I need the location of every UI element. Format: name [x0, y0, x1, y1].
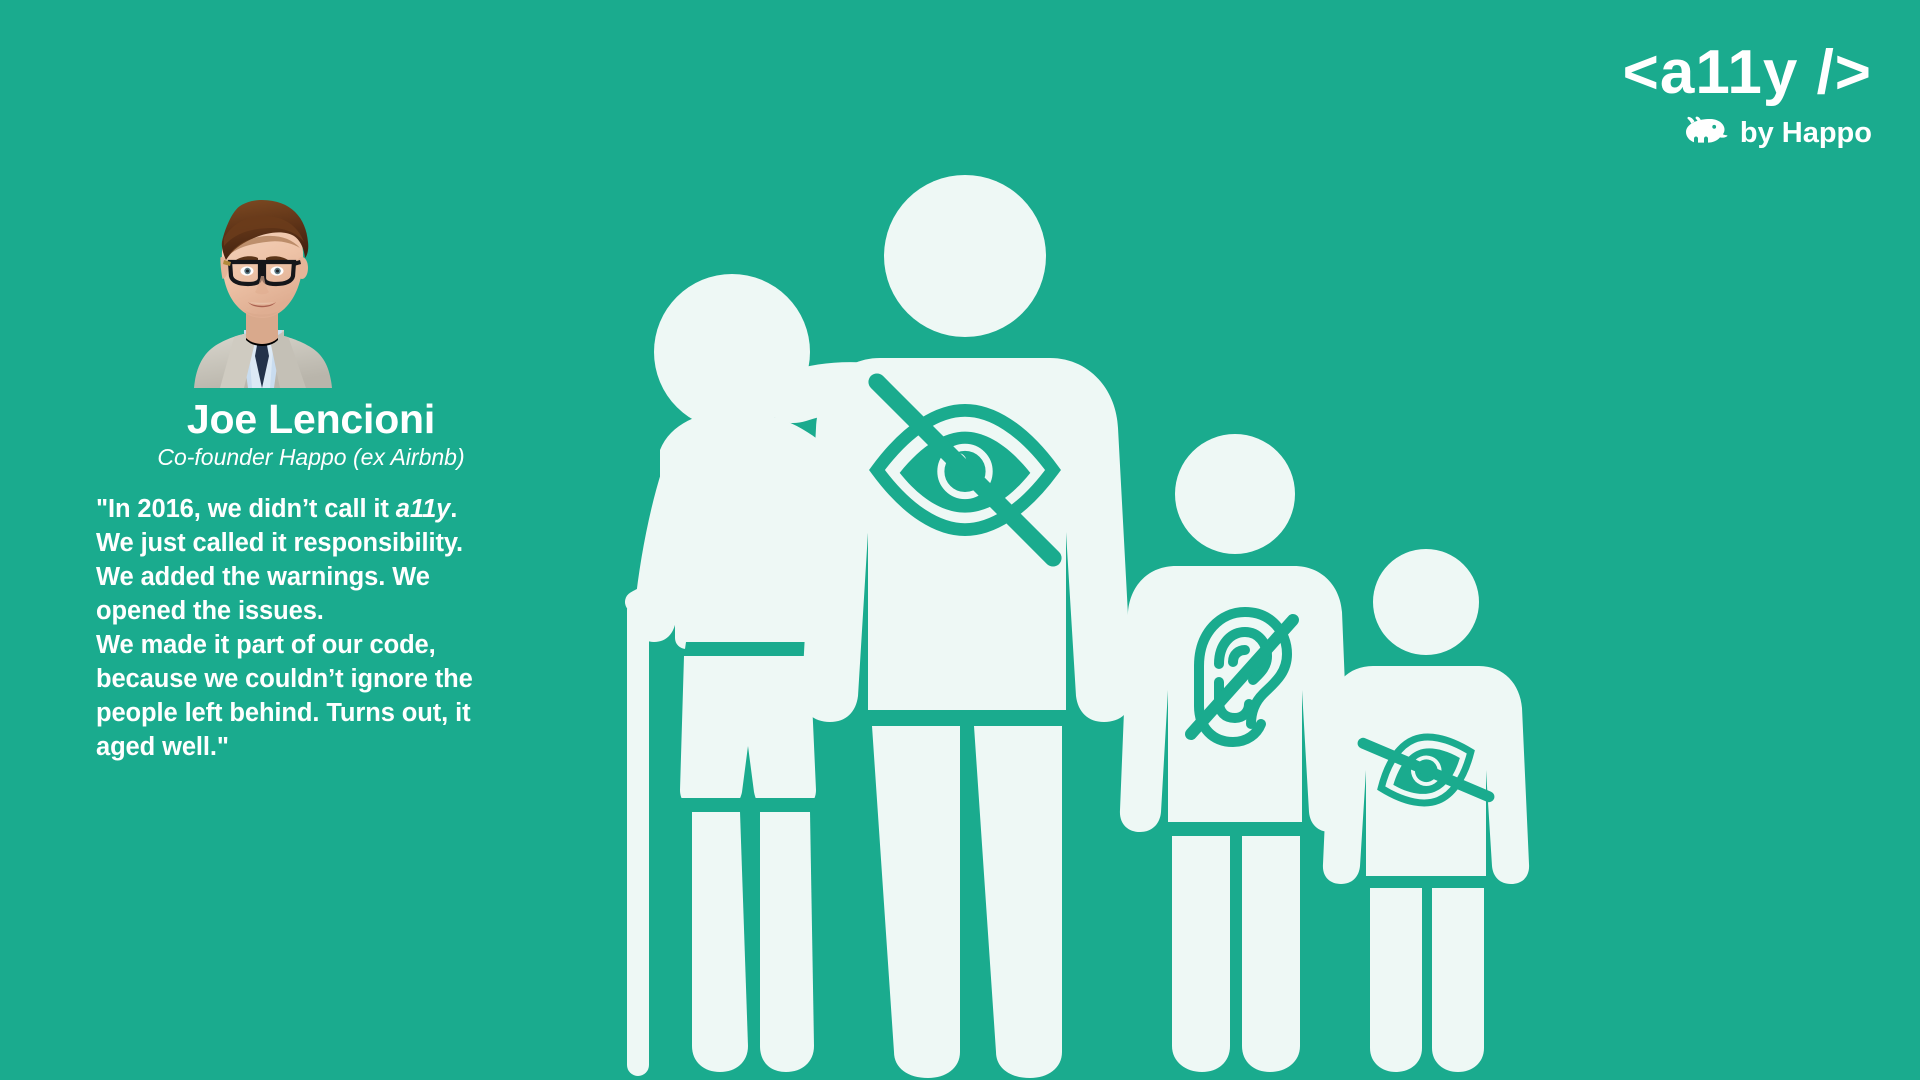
walking-cane [636, 596, 686, 1065]
quote-line-1-text: "In 2016, we didn’t call it [96, 495, 396, 523]
figure-adult-blind [766, 175, 1132, 1078]
quote-line-6: because we couldn’t ignore the [96, 662, 526, 696]
brand-logo: <a11y /> by Happo [1623, 42, 1872, 151]
avatar [96, 190, 526, 390]
hippo-icon [1684, 116, 1728, 151]
quote-line-7: people left behind. Turns out, it [96, 696, 526, 730]
speaker-role: Co-founder Happo (ex Airbnb) [96, 445, 526, 470]
figure-child-deaf [1120, 434, 1350, 1072]
brand-wordmark: <a11y /> [1623, 42, 1872, 104]
quote-line-4: opened the issues. [96, 594, 526, 628]
quote-line-1: "In 2016, we didn’t call it a11y. [96, 492, 526, 526]
quote-line-2: We just called it responsibility. [96, 526, 526, 560]
speaker-photo [188, 190, 334, 388]
quote-line-8: aged well." [96, 730, 526, 764]
quote-block: "In 2016, we didn’t call it a11y. We jus… [96, 492, 526, 764]
quote-line-5: We made it part of our code, [96, 628, 526, 662]
quote-emphasis-tail: . [450, 495, 457, 523]
quote-line-3: We added the warnings. We [96, 560, 526, 594]
figure-toddler-lowvision [1323, 549, 1529, 1072]
slide-canvas: <a11y /> by Happo [0, 0, 1920, 1080]
brand-byline: by Happo [1623, 116, 1872, 151]
brand-byline-label: by Happo [1740, 119, 1872, 148]
quote-emphasis: a11y [396, 495, 450, 523]
speaker-card: Joe Lencioni Co-founder Happo (ex Airbnb… [96, 190, 526, 764]
illustration-group-of-people [580, 150, 1920, 1080]
page-title: Joe Lencioni [96, 398, 526, 441]
